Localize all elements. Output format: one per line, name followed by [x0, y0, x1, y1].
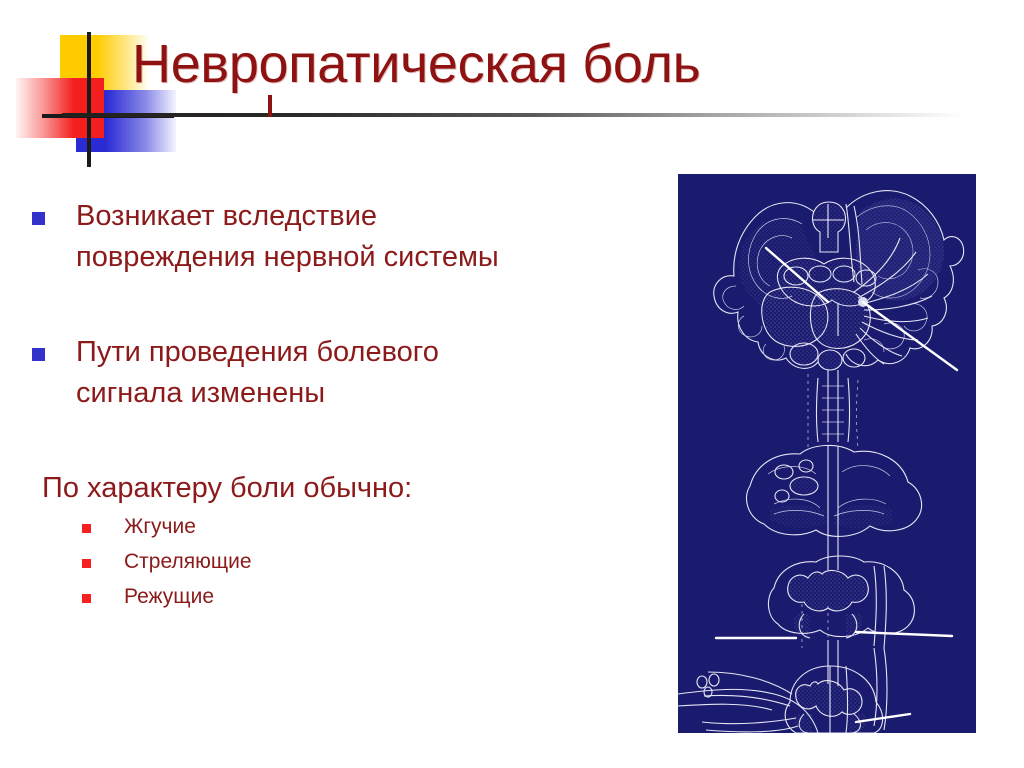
lead-in-text: По характеру боли обычно:: [42, 470, 620, 508]
pain-pathway-diagram: .ink { fill:none; stroke:#E6E6F5; stroke…: [678, 174, 976, 733]
title-divider: [62, 113, 962, 117]
spacer: [0, 288, 620, 332]
square-bullet-icon: [32, 348, 45, 361]
logo-vertical-line: [87, 32, 91, 167]
square-bullet-icon: [32, 212, 45, 225]
bullet-text: Пути проведения болевого сигнала изменен…: [76, 332, 536, 414]
anatomy-figure: .ink { fill:none; stroke:#E6E6F5; stroke…: [678, 174, 976, 733]
list-item: Пути проведения болевого сигнала изменен…: [0, 332, 620, 414]
square-bullet-icon: [82, 524, 91, 533]
spacer: [0, 424, 620, 470]
list-item: Возникает вследствие повреждения нервной…: [0, 196, 620, 278]
list-item: Режущие: [0, 583, 620, 612]
content-body: Возникает вследствие повреждения нервной…: [0, 196, 620, 618]
title-divider-tick: [268, 95, 272, 117]
sub-bullet-text: Стреляющие: [124, 548, 252, 577]
list-item: Жгучие: [0, 513, 620, 542]
slide-canvas: Невропатическая боль Возникает вследстви…: [0, 0, 1024, 768]
sub-bullet-list: Жгучие Стреляющие Режущие: [0, 513, 620, 612]
page-title: Невропатическая боль: [132, 36, 972, 92]
square-bullet-icon: [82, 559, 91, 568]
sub-bullet-text: Жгучие: [124, 513, 196, 542]
square-bullet-icon: [82, 594, 91, 603]
bullet-text: Возникает вследствие повреждения нервной…: [76, 196, 536, 278]
list-item: Стреляющие: [0, 548, 620, 577]
sub-bullet-text: Режущие: [124, 583, 214, 612]
